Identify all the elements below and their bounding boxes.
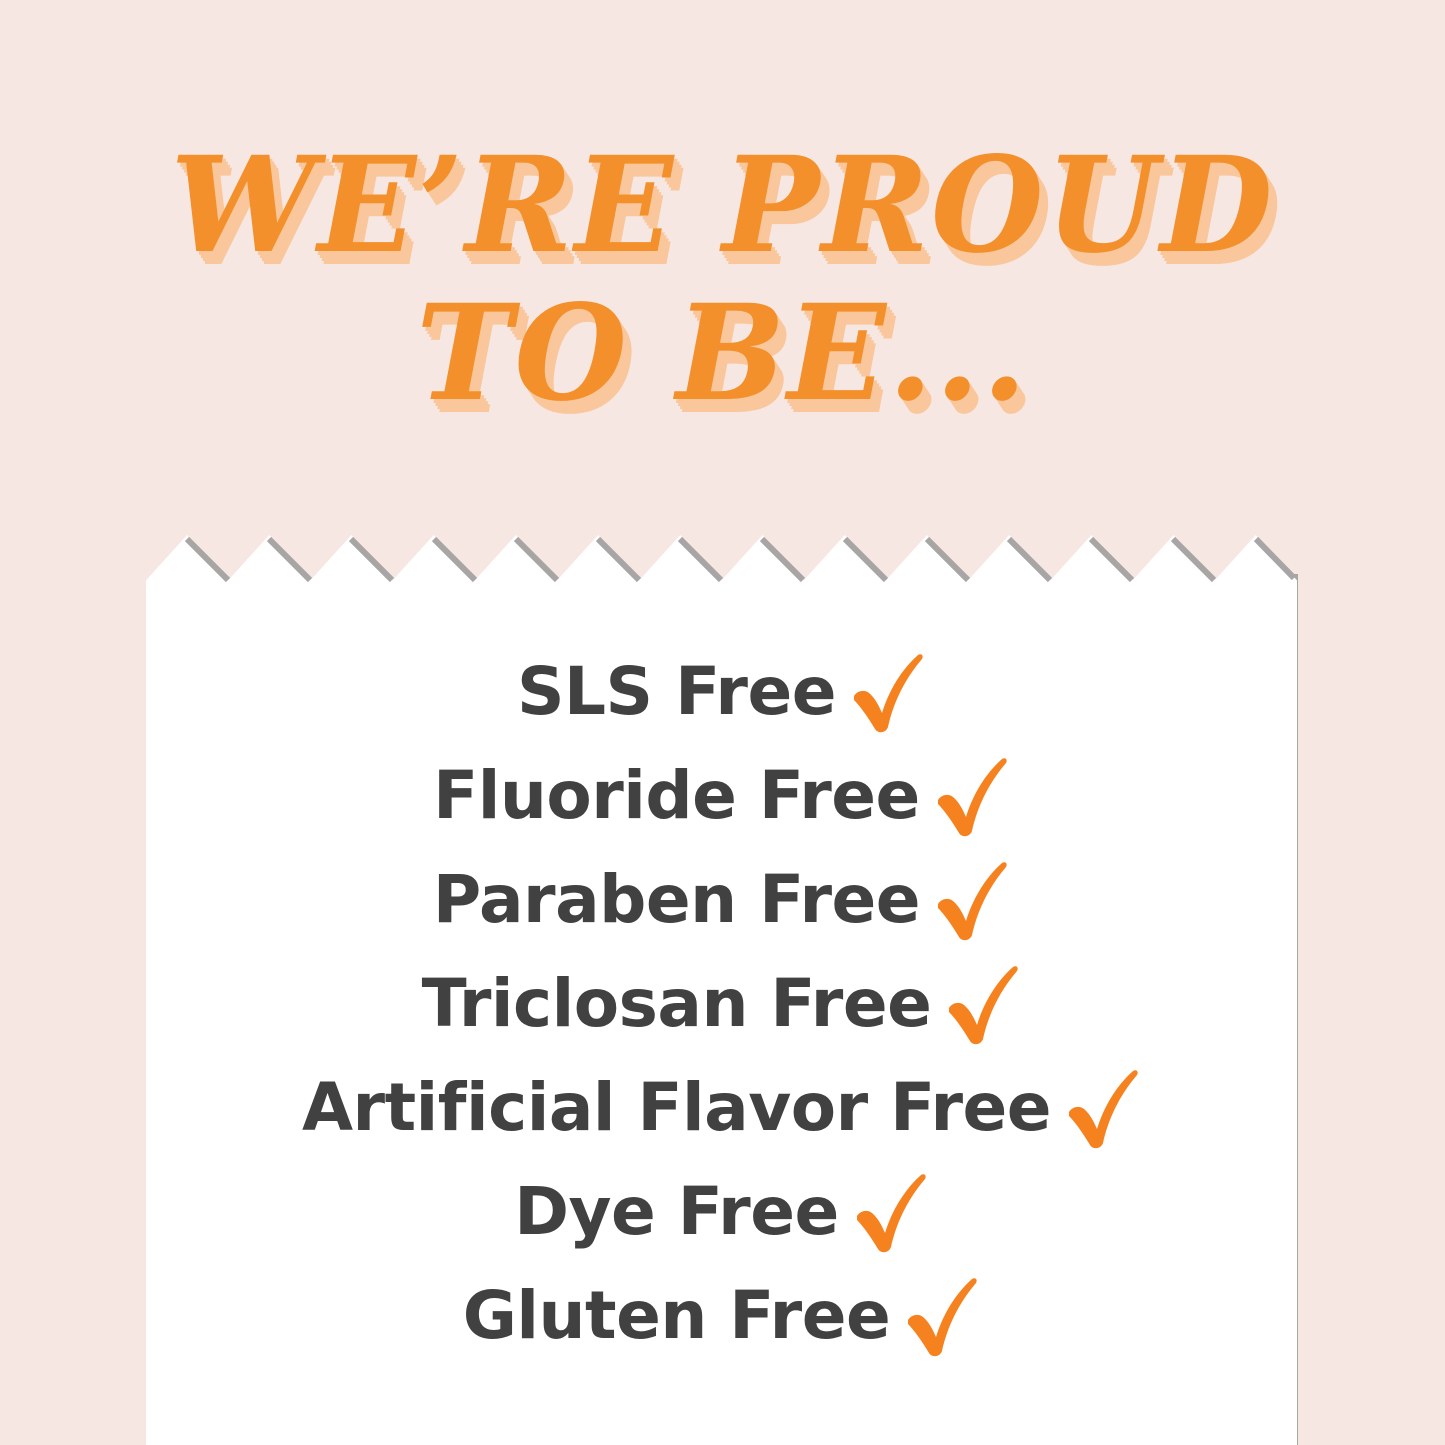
orange-checkmark-icon (902, 1273, 980, 1359)
benefit-label: Artificial Flavor Free (302, 1075, 1051, 1141)
benefit-label: Dye Free (514, 1179, 839, 1245)
headline-line-1: WE’RE PROUD (14, 140, 1430, 272)
list-item: SLS Free (146, 640, 1297, 744)
benefit-label: Triclosan Free (422, 971, 932, 1037)
list-item: Dye Free (146, 1160, 1297, 1264)
list-item: Gluten Free (146, 1264, 1297, 1368)
benefit-label: Fluoride Free (433, 763, 920, 829)
headline-line-2: TO BE... (14, 288, 1430, 420)
orange-checkmark-icon (848, 649, 926, 735)
orange-checkmark-icon (932, 753, 1010, 839)
benefit-label: SLS Free (517, 659, 836, 725)
benefits-list: SLS Free Fluoride Free Paraben Free (146, 640, 1297, 1368)
list-item: Fluoride Free (146, 744, 1297, 848)
list-item: Paraben Free (146, 848, 1297, 952)
orange-checkmark-icon (851, 1169, 929, 1255)
headline-block: WE’RE PROUD TO BE... (0, 140, 1445, 420)
benefit-label: Paraben Free (433, 867, 920, 933)
orange-checkmark-icon (1063, 1065, 1141, 1151)
benefit-label: Gluten Free (463, 1283, 891, 1349)
promo-graphic: WE’RE PROUD TO BE... (0, 0, 1445, 1445)
list-item: Artificial Flavor Free (146, 1056, 1297, 1160)
orange-checkmark-icon (932, 857, 1010, 943)
list-item: Triclosan Free (146, 952, 1297, 1056)
orange-checkmark-icon (943, 961, 1021, 1047)
